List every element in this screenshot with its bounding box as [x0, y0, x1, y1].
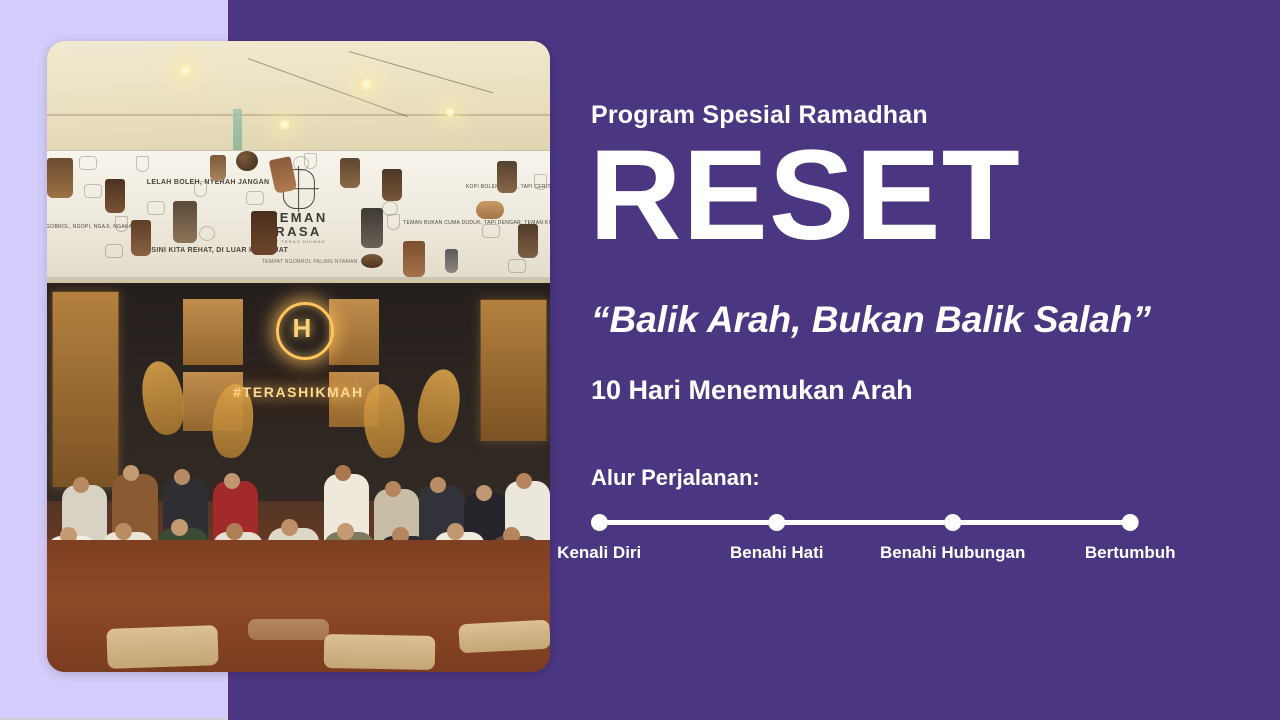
teman-rasa-banner: TEMAN RASA BY TERAS HIKMAH LELAH BOLEH, …	[47, 150, 550, 279]
page-title: RESET	[589, 137, 1021, 255]
food-illustration	[476, 201, 504, 219]
wall-plank	[329, 299, 379, 365]
drink-illustration	[173, 201, 197, 243]
timeline-dot-icon	[944, 514, 961, 531]
glass-sketch-icon	[115, 216, 128, 232]
slide-content: Program Spesial Ramadhan RESET “Balik Ar…	[591, 0, 1251, 720]
timeline-step-4: Bertumbuh	[1085, 505, 1176, 563]
drink-illustration	[236, 151, 258, 171]
attendee-head	[171, 519, 188, 536]
neon-hashtag-sign: #TERASHIKMAH	[233, 384, 363, 400]
drink-illustration	[497, 161, 517, 193]
tagline: “Balik Arah, Bukan Balik Salah”	[591, 299, 1151, 341]
slide-canvas: TEMAN RASA BY TERAS HIKMAH LELAH BOLEH, …	[0, 0, 1280, 720]
prayer-mat	[459, 619, 550, 653]
banner-slogan: LELAH BOLEH, NYERAH JANGAN	[147, 179, 270, 186]
drink-illustration	[131, 220, 151, 256]
timeline-track	[599, 520, 1131, 525]
burger-sketch-icon	[482, 224, 500, 238]
event-photo-card: TEMAN RASA BY TERAS HIKMAH LELAH BOLEH, …	[47, 41, 550, 672]
glass-sketch-icon	[387, 214, 400, 230]
crumpled-paper-sketch-icon	[199, 226, 215, 241]
drink-illustration	[340, 158, 360, 188]
burger-sketch-icon	[246, 191, 264, 205]
banner-slogan: TEMPAT NGOBROL PALING NYAMAN	[262, 259, 358, 265]
prayer-mat	[248, 619, 328, 640]
photo-group-area: H #TERASHIKMAH	[47, 283, 550, 672]
attendee-head	[385, 481, 401, 497]
ceiling	[47, 41, 550, 162]
brand-tagline: BY TERAS HIKMAH	[269, 239, 327, 244]
timeline-dot-icon	[591, 514, 608, 531]
wall-plank	[183, 299, 243, 365]
attendee-head	[476, 485, 492, 501]
photo-ceiling-banner-area: TEMAN RASA BY TERAS HIKMAH LELAH BOLEH, …	[47, 41, 550, 283]
glass-sketch-icon	[534, 174, 547, 190]
drink-illustration	[251, 211, 277, 255]
attendee-head	[335, 465, 351, 481]
attendee-head	[174, 469, 190, 485]
timeline-step-2: Benahi Hati	[730, 505, 824, 563]
brand-line-2: RASA	[269, 225, 327, 239]
drink-illustration	[403, 241, 425, 277]
drink-illustration	[105, 179, 125, 213]
journey-timeline: Kenali Diri Benahi Hati Benahi Hubungan …	[591, 505, 1139, 575]
timeline-step-label: Kenali Diri	[557, 543, 641, 563]
prayer-mat	[323, 634, 434, 670]
attendee-head	[447, 523, 464, 540]
burger-sketch-icon	[79, 156, 97, 170]
timeline-dot-icon	[1122, 514, 1139, 531]
neon-logo-letter: H	[276, 302, 328, 354]
burger-sketch-icon	[84, 184, 102, 198]
glass-sketch-icon	[518, 239, 531, 255]
food-illustration	[361, 254, 383, 268]
timeline-step-label: Bertumbuh	[1085, 543, 1176, 563]
flow-title: Alur Perjalanan:	[591, 465, 760, 491]
timeline-step-label: Benahi Hati	[730, 543, 824, 563]
burger-sketch-icon	[508, 259, 526, 273]
glass-sketch-icon	[194, 181, 207, 197]
timeline-step-1: Kenali Diri	[557, 505, 641, 563]
carpet	[47, 540, 550, 672]
attendee-head	[226, 523, 243, 540]
timeline-dot-icon	[768, 514, 785, 531]
brand-line-1: TEMAN	[269, 211, 327, 225]
timeline-step-label: Benahi Hubungan	[880, 543, 1025, 563]
glass-sketch-icon	[136, 156, 149, 172]
drink-illustration	[210, 155, 226, 181]
drink-illustration	[382, 169, 402, 201]
attendee-head	[516, 473, 532, 489]
burger-sketch-icon	[105, 244, 123, 258]
prayer-mat	[107, 625, 219, 669]
attendee-head	[337, 523, 354, 540]
burger-sketch-icon	[147, 201, 165, 215]
drink-illustration	[445, 249, 458, 273]
drink-illustration	[361, 208, 383, 248]
timeline-step-3: Benahi Hubungan	[880, 505, 1025, 563]
subtitle: 10 Hari Menemukan Arah	[591, 375, 913, 406]
drink-illustration	[47, 158, 73, 198]
hanging-lamp	[178, 63, 193, 78]
